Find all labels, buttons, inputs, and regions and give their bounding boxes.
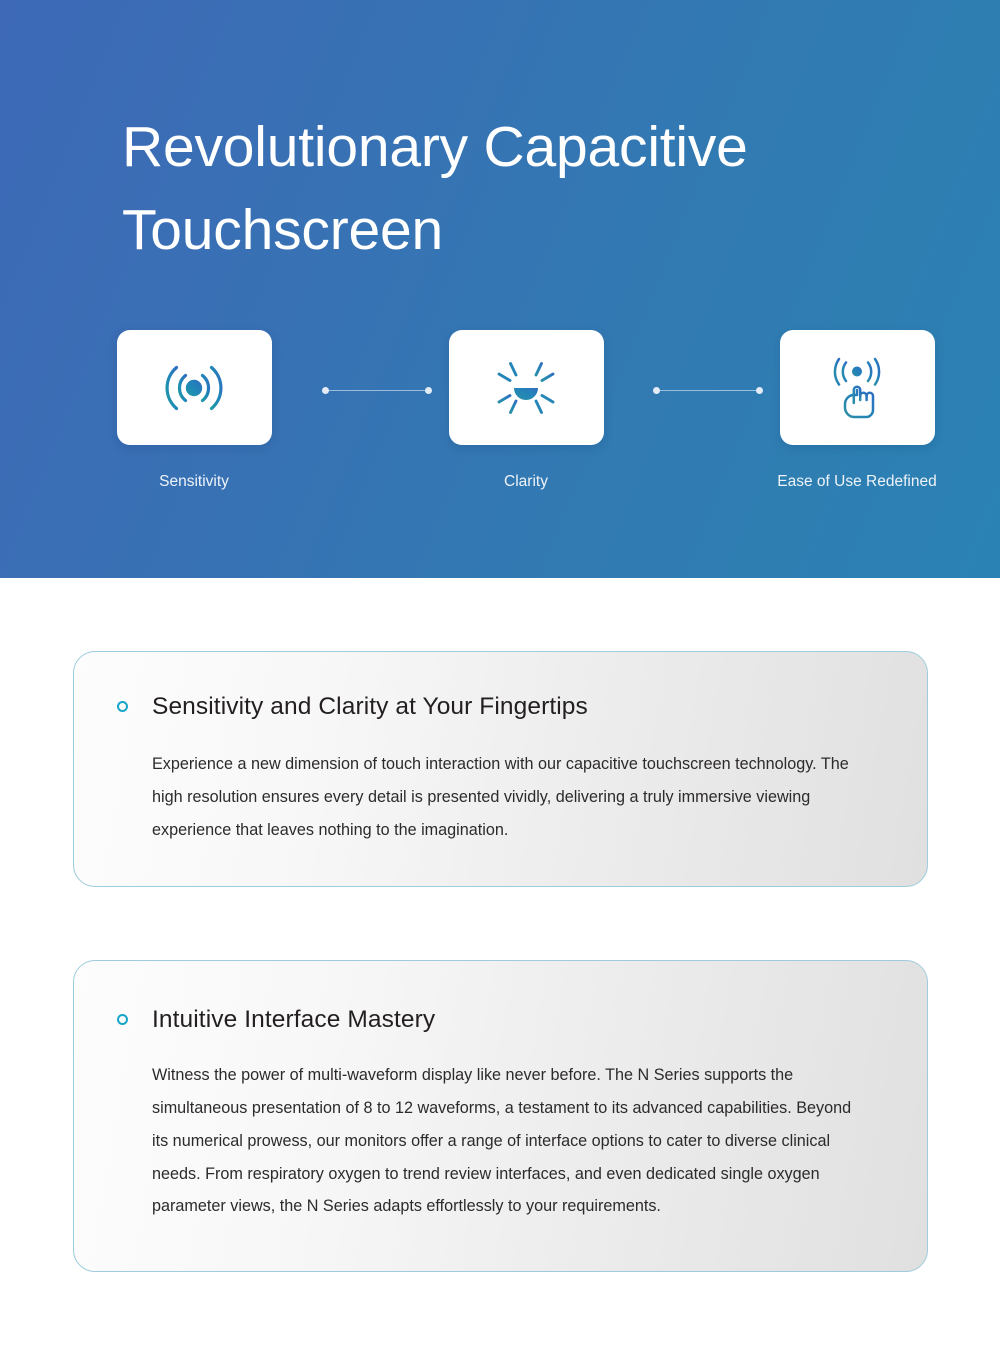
page-title: Revolutionary Capacitive Touchscreen	[122, 106, 912, 272]
bullet-ring-icon	[117, 1014, 128, 1025]
card-header: Sensitivity and Clarity at Your Fingerti…	[74, 652, 927, 721]
brightness-sunburst-icon	[486, 355, 566, 421]
card-title: Intuitive Interface Mastery	[152, 1005, 435, 1034]
hero-banner: Revolutionary Capacitive Touchscreen	[0, 0, 1000, 578]
content-card-sensitivity-clarity: Sensitivity and Clarity at Your Fingerti…	[73, 651, 928, 887]
feature-ease-of-use[interactable]: Ease of Use Redefined	[772, 330, 942, 493]
connector-dot	[425, 387, 432, 394]
card-body-text: Experience a new dimension of touch inte…	[74, 721, 927, 846]
card-body-text: Witness the power of multi-waveform disp…	[74, 1034, 927, 1223]
card-header: Intuitive Interface Mastery	[74, 961, 927, 1034]
feature-clarity[interactable]: Clarity	[441, 330, 611, 493]
connector-segment	[660, 390, 756, 391]
feature-label: Ease of Use Redefined	[767, 471, 947, 493]
signal-waves-icon	[155, 357, 233, 419]
card-title: Sensitivity and Clarity at Your Fingerti…	[152, 692, 588, 721]
feature-strip: Sensitivity	[0, 330, 1000, 530]
feature-sensitivity[interactable]: Sensitivity	[109, 330, 279, 493]
feature-icon-card[interactable]	[117, 330, 272, 445]
connector-dot	[653, 387, 660, 394]
connector-line-2	[653, 387, 763, 394]
connector-dot	[756, 387, 763, 394]
content-card-intuitive-interface: Intuitive Interface Mastery Witness the …	[73, 960, 928, 1272]
bullet-ring-icon	[117, 701, 128, 712]
connector-line-1	[322, 387, 432, 394]
connector-dot	[322, 387, 329, 394]
touch-hand-icon	[819, 356, 895, 420]
feature-icon-card[interactable]	[449, 330, 604, 445]
connector-segment	[329, 390, 425, 391]
feature-label: Sensitivity	[104, 471, 284, 493]
feature-label: Clarity	[436, 471, 616, 493]
feature-icon-card[interactable]	[780, 330, 935, 445]
